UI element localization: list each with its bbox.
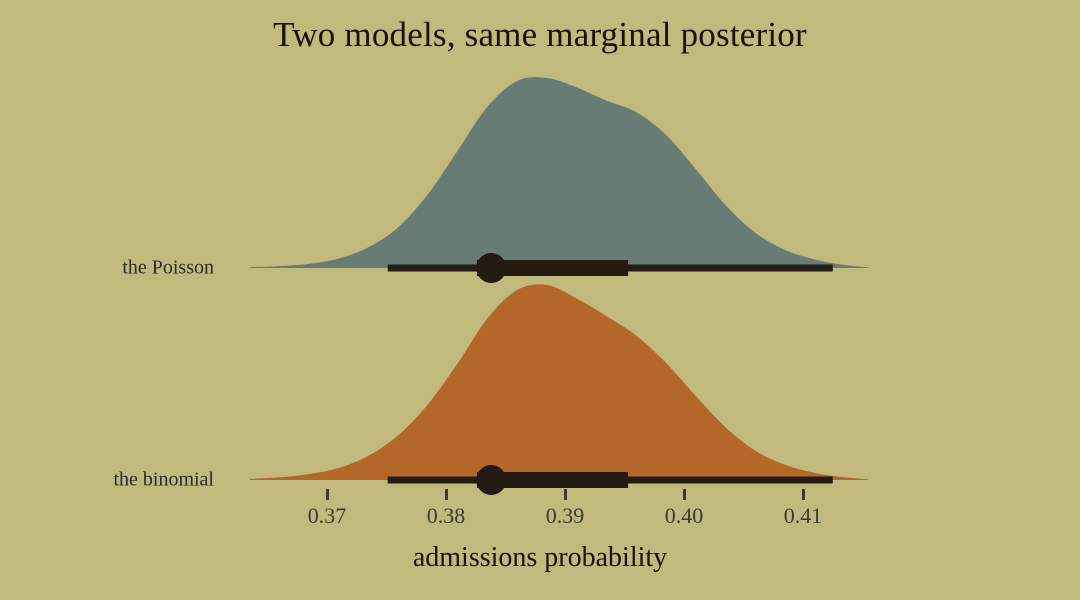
y-axis-label-0: the Poisson: [122, 257, 214, 280]
x-axis-title: admissions probability: [0, 542, 1080, 574]
y-axis-label-group: the Poissonthe binomial: [0, 0, 214, 600]
chart-figure: Two models, same marginal posterior the …: [0, 0, 1080, 600]
point-estimate-dot: [476, 253, 506, 283]
density-series-1: [250, 284, 869, 495]
density-series-0: [250, 77, 869, 283]
point-estimate-dot: [476, 465, 506, 495]
y-axis-label-1: the binomial: [113, 469, 214, 492]
density-area: [250, 77, 869, 268]
density-area: [250, 284, 869, 480]
